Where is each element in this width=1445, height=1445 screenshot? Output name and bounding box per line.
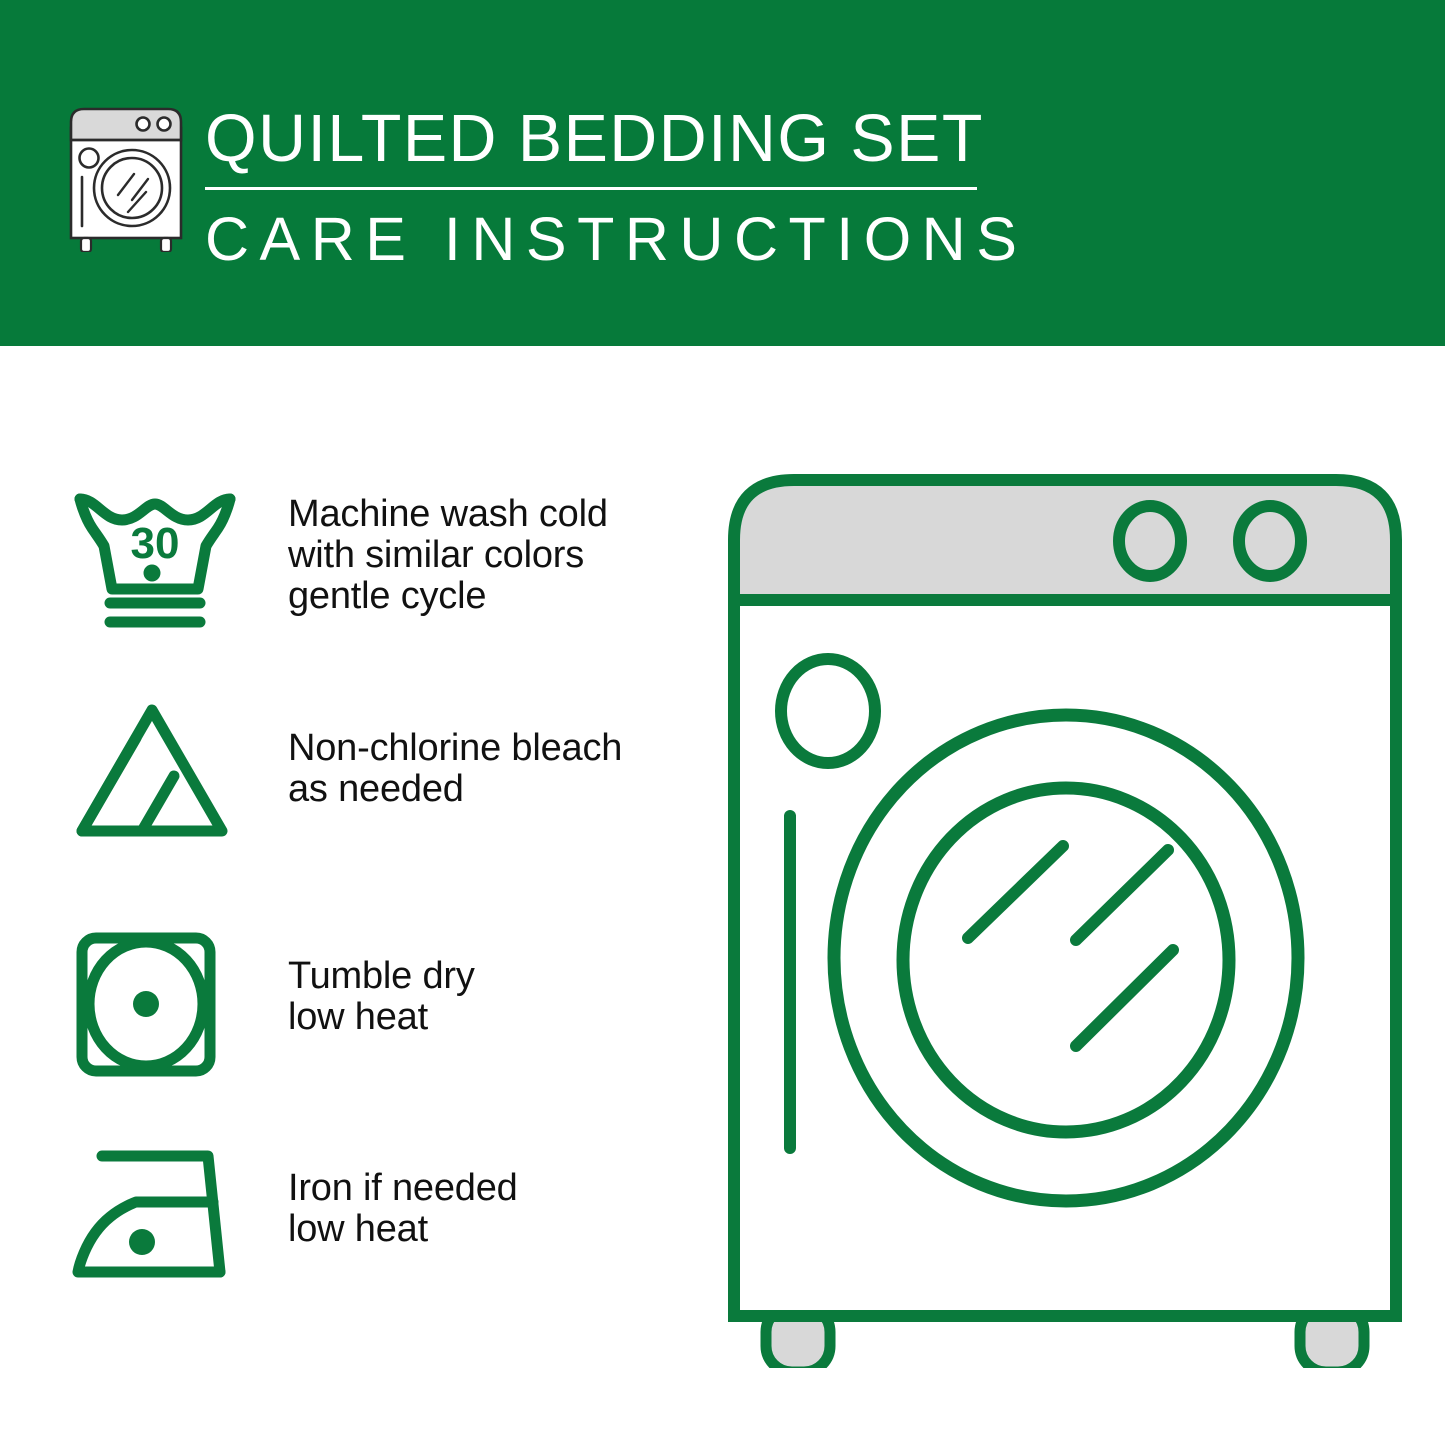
page-header: QUILTED BEDDING SET CARE INSTRUCTIONS: [0, 0, 1445, 346]
non-chlorine-bleach-triangle-icon: [70, 698, 245, 848]
tumble-dry-low-icon: [70, 930, 245, 1080]
header-text-block: QUILTED BEDDING SET CARE INSTRUCTIONS: [205, 100, 995, 274]
wash-tub-30-icon: 30: [70, 486, 245, 636]
care-instruction-item: Iron if needed low heat: [0, 1142, 700, 1354]
page-subtitle: CARE INSTRUCTIONS: [205, 204, 995, 274]
care-instruction-text: Tumble dry low heat: [288, 956, 475, 1038]
care-instruction-item: Non-chlorine bleach as needed: [0, 698, 700, 910]
care-instruction-text: Machine wash cold with similar colors ge…: [288, 494, 608, 617]
washing-machine-icon: [62, 100, 190, 252]
care-instruction-text: Non-chlorine bleach as needed: [288, 728, 622, 810]
care-instruction-item: Tumble dry low heat: [0, 930, 700, 1142]
control-knob-left: [1119, 506, 1181, 576]
header-divider: [205, 187, 977, 190]
wash-temperature-label: 30: [131, 519, 180, 568]
care-instructions-page: QUILTED BEDDING SET CARE INSTRUCTIONS: [0, 0, 1445, 1445]
page-title: QUILTED BEDDING SET: [205, 100, 987, 178]
care-instruction-list: 30 Machine wash cold with similar colors…: [0, 346, 700, 1445]
control-knob-right: [1239, 506, 1301, 576]
front-load-washing-machine-illustration: [718, 468, 1418, 1368]
care-instruction-text: Iron if needed low heat: [288, 1168, 518, 1250]
drum-inner-ring: [903, 788, 1229, 1132]
iron-low-heat-icon: [70, 1142, 245, 1292]
detergent-dial: [781, 659, 875, 763]
care-instruction-item: 30 Machine wash cold with similar colors…: [0, 486, 700, 698]
